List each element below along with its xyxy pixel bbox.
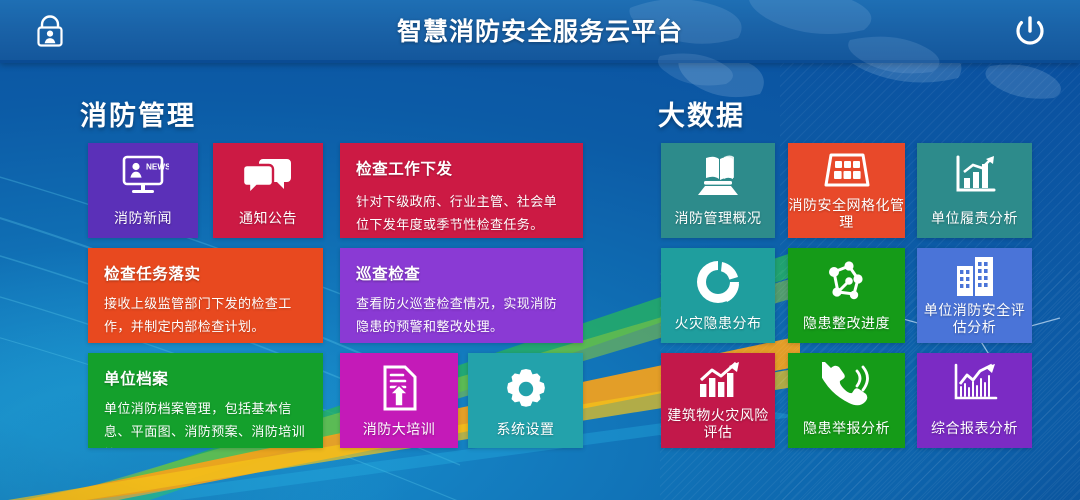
buildings-icon (917, 254, 1032, 298)
tile-comprehensive-report[interactable]: 综合报表分析 (917, 353, 1032, 448)
tile-safety-assessment[interactable]: 单位消防安全评估分析 (917, 248, 1032, 343)
tile-label: 隐患举报分析 (788, 421, 905, 438)
tile-heading: 检查任务落实 (104, 262, 307, 284)
tile-label: 建筑物火灾风险评估 (661, 408, 775, 442)
tile-report-analysis[interactable]: 隐患举报分析 (788, 353, 905, 448)
tile-label: 消防新闻 (88, 211, 198, 228)
tile-fire-news[interactable]: NEWS 消防新闻 (88, 143, 198, 238)
section-title-big-data: 大数据 (658, 94, 745, 133)
tile-grid-management[interactable]: 消防安全网格化管理 (788, 143, 905, 238)
tile-hazard-distribution[interactable]: 火灾隐患分布 (661, 248, 775, 343)
document-upload-icon (340, 363, 458, 413)
power-icon[interactable] (1010, 11, 1050, 51)
app-root: 智慧消防安全服务云平台 消防管理 大数据 NEWS 消防新闻 (0, 0, 1080, 500)
grid-panel-icon (788, 151, 905, 193)
tile-heading: 单位档案 (104, 367, 307, 389)
tile-body: 查看防火巡查检查情况，实现消防隐患的预警和整改处理。 (356, 293, 567, 339)
tile-fire-training[interactable]: 消防大培训 (340, 353, 458, 448)
tile-duty-analysis[interactable]: 单位履责分析 (917, 143, 1032, 238)
tile-notice-bulletin[interactable]: 通知公告 (213, 143, 323, 238)
tile-body: 针对下级政府、行业主管、社会单位下发年度或季节性检查任务。 (356, 191, 567, 237)
tile-inspection-issue[interactable]: 检查工作下发 针对下级政府、行业主管、社会单位下发年度或季节性检查任务。 (340, 143, 583, 238)
page-title: 智慧消防安全服务云平台 (0, 12, 1080, 48)
tile-heading: 巡查检查 (356, 262, 567, 284)
tile-unit-archive[interactable]: 单位档案 单位消防档案管理，包括基本信息、平面图、消防预案、消防培训等。 (88, 353, 323, 448)
tile-label: 单位消防安全评估分析 (917, 303, 1032, 337)
tile-label: 通知公告 (213, 211, 323, 228)
laptop-books-icon (661, 153, 775, 201)
tile-inspection-task[interactable]: 检查任务落实 接收上级监管部门下发的检查工作，并制定内部检查计划。 (88, 248, 323, 343)
tile-system-settings[interactable]: 系统设置 (468, 353, 583, 448)
gear-icon (468, 366, 583, 412)
tile-label: 消防管理概况 (661, 211, 775, 228)
tile-body: 接收上级监管部门下发的检查工作，并制定内部检查计划。 (104, 293, 307, 339)
svg-text:NEWS: NEWS (146, 163, 169, 172)
network-nodes-icon (788, 259, 905, 305)
app-header: 智慧消防安全服务云平台 (0, 0, 1080, 63)
tile-building-risk[interactable]: 建筑物火灾风险评估 (661, 353, 775, 448)
tile-label: 消防安全网格化管理 (788, 198, 905, 232)
chat-bubbles-icon (213, 157, 323, 199)
tile-heading: 检查工作下发 (356, 157, 567, 179)
tile-label: 火灾隐患分布 (661, 316, 775, 333)
bar-chart-up-icon (917, 154, 1032, 198)
phone-ring-icon (788, 362, 905, 408)
tile-rectify-progress[interactable]: 隐患整改进度 (788, 248, 905, 343)
section-title-fire-management: 消防管理 (80, 94, 196, 133)
tile-patrol-inspection[interactable]: 巡查检查 查看防火巡查检查情况，实现消防隐患的预警和整改处理。 (340, 248, 583, 343)
tile-label: 消防大培训 (340, 422, 458, 439)
tile-label: 单位履责分析 (917, 211, 1032, 228)
news-monitor-icon: NEWS (88, 155, 198, 199)
donut-chart-icon (661, 259, 775, 305)
line-bar-chart-icon (917, 362, 1032, 406)
tile-body: 单位消防档案管理，包括基本信息、平面图、消防预案、消防培训等。 (104, 398, 307, 448)
growth-chart-icon (661, 360, 775, 402)
tile-label: 综合报表分析 (917, 421, 1032, 438)
tile-fire-mgmt-overview[interactable]: 消防管理概况 (661, 143, 775, 238)
tile-label: 系统设置 (468, 422, 583, 439)
tile-label: 隐患整改进度 (788, 316, 905, 333)
